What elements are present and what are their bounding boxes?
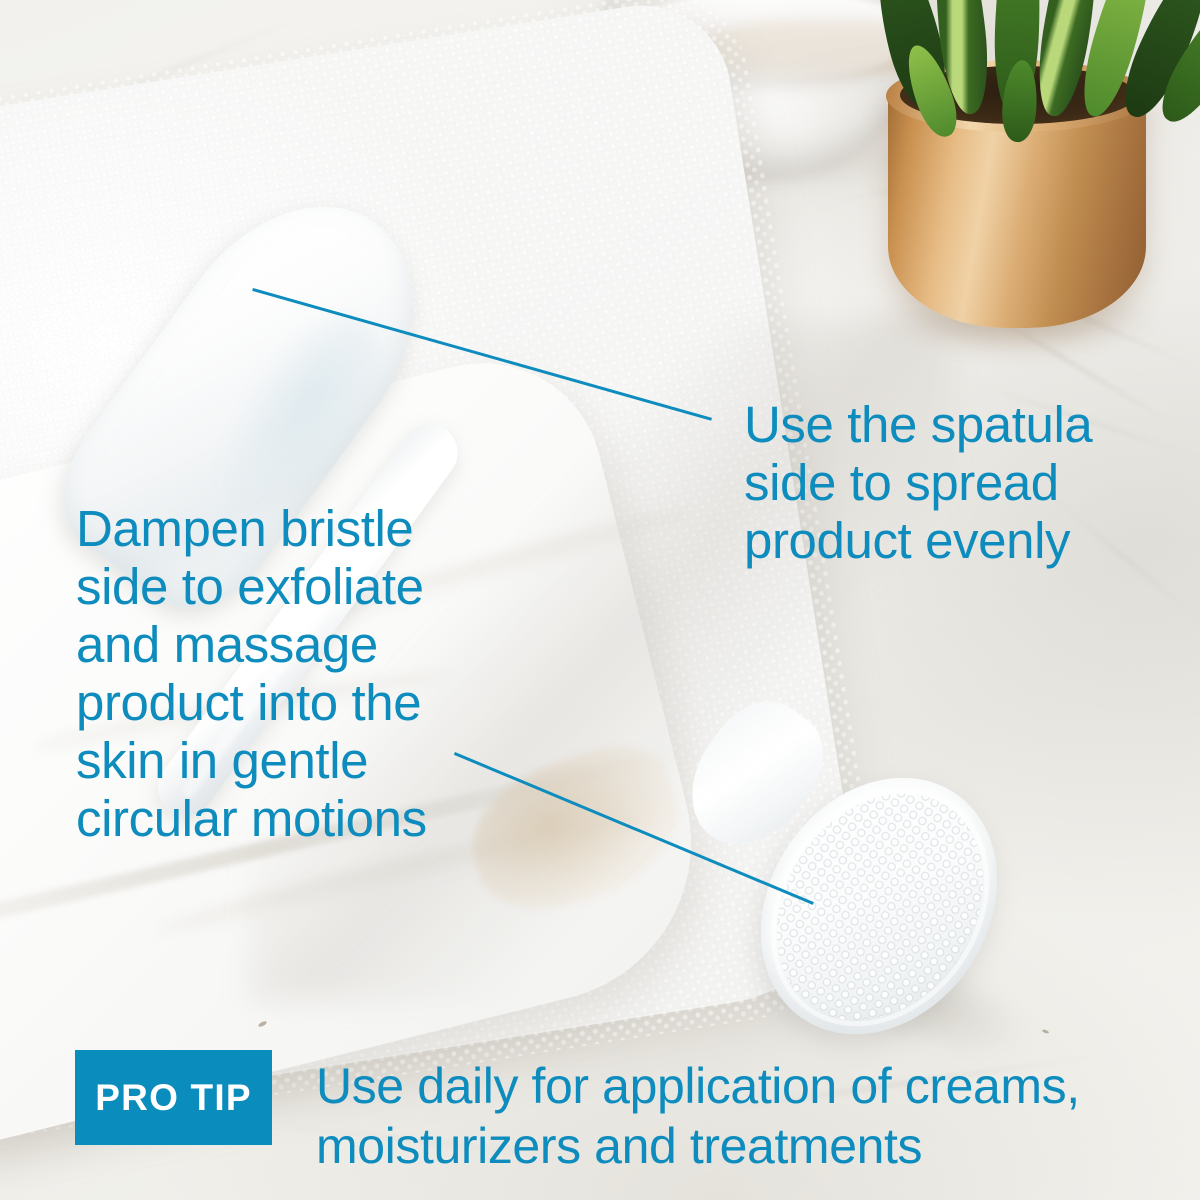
spatula-side-callout-text: Use the spatula side to spread product e… [744,396,1164,570]
infographic-canvas: Use the spatula side to spread product e… [0,0,1200,1200]
bristle-side-callout-text: Dampen bristle side to exfoliate and mas… [76,500,496,848]
pro-tip-row: PRO TIP Use daily for application of cre… [75,1050,1080,1176]
pro-tip-text: Use daily for application of creams, moi… [316,1050,1080,1176]
pro-tip-badge: PRO TIP [75,1050,272,1145]
